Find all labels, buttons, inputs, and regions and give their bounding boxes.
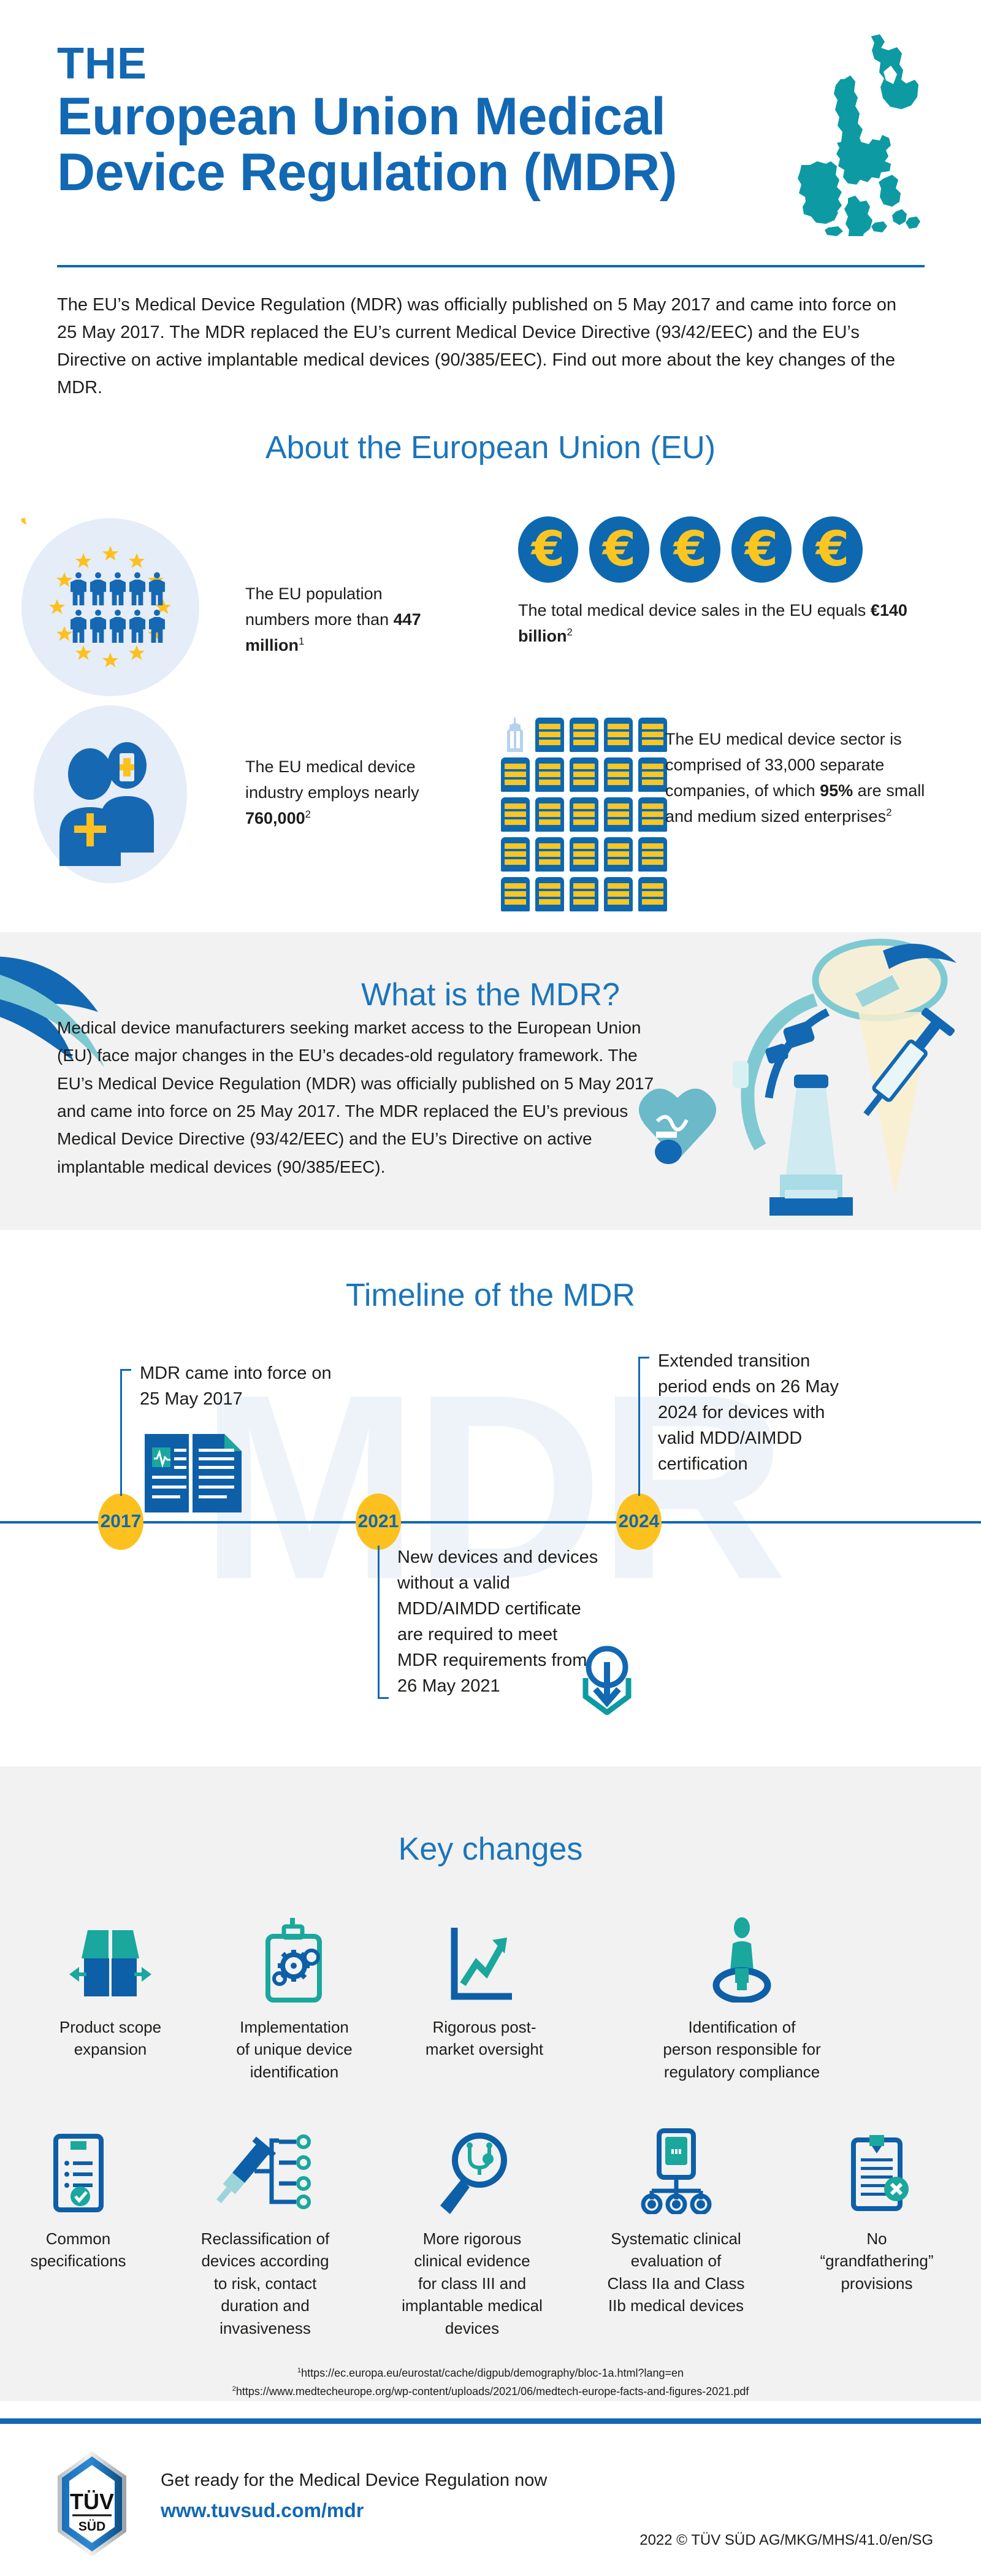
svg-text:SÜD: SÜD (78, 2520, 105, 2534)
footer-copyright: 2022 © TÜV SÜD AG/MKG/MHS/41.0/en/SG (639, 2532, 933, 2549)
about-eu-heading: About the European Union (EU) (0, 429, 981, 466)
eu-flag-people-icon (21, 518, 199, 696)
key-change-label: Rigorous post- market oversight (405, 2016, 564, 2061)
person-figure (110, 610, 126, 643)
intro-paragraph: The EU’s Medical Device Regulation (MDR)… (57, 291, 915, 402)
key-change-label: More rigorous clinical evidence for clas… (380, 2228, 564, 2339)
stat-population-text: The EU population numbers more than 447 … (245, 581, 429, 659)
timeline-stem-2017 (120, 1369, 122, 1496)
footnote-row: 1https://ec.europa.eu/eurostat/cache/dig… (0, 2364, 981, 2383)
footer-divider (0, 2418, 981, 2424)
euro-coin: € (803, 516, 863, 583)
building-icon (535, 877, 564, 911)
id-badge-gears-icon (208, 1911, 380, 2003)
person-figure (90, 610, 106, 643)
stat-employment-text: The EU medical device industry employs n… (245, 754, 429, 832)
building-icon (604, 797, 633, 832)
timeline-node-2017[interactable]: 2017 (98, 1493, 143, 1550)
building-icon (638, 837, 667, 872)
buildings-grid-icon (501, 718, 667, 911)
syringe-branching-icon (178, 2122, 353, 2214)
device-hierarchy-icon (586, 2122, 766, 2214)
footer-link[interactable]: www.tuvsud.com/mdr (161, 2499, 364, 2522)
key-change-product-scope[interactable]: Product scope expansion (31, 1911, 190, 2061)
footnote-url[interactable]: https://www.medtecheurope.org/wp-content… (236, 2385, 749, 2398)
tuv-sud-logo[interactable]: TÜV SÜD (46, 2450, 138, 2558)
page-title-line2: Device Regulation (MDR) (57, 145, 781, 201)
stat-employment-footnote: 2 (305, 808, 311, 820)
building-icon (501, 757, 530, 792)
timeline-text-2021: New devices and devices without a valid … (397, 1544, 600, 1699)
key-change-no-grandfathering[interactable]: No “grandfathering” provisions (797, 2122, 956, 2294)
tall-tower-icon (501, 718, 530, 752)
building-icon (570, 718, 598, 752)
clipboard-check-icon (12, 2122, 144, 2214)
building-icon (604, 718, 633, 752)
person-figure (110, 572, 126, 605)
stat-population-before: The EU population numbers more than (245, 585, 394, 629)
building-icon (501, 877, 530, 911)
footer-cta: Get ready for the Medical Device Regulat… (161, 2471, 547, 2491)
key-change-clinical-evidence[interactable]: More rigorous clinical evidence for clas… (380, 2122, 564, 2339)
building-icon (570, 877, 598, 911)
key-change-label: Product scope expansion (31, 2016, 190, 2061)
stat-sales-before: The total medical device sales in the EU… (518, 601, 871, 619)
building-icon (604, 877, 633, 911)
key-change-reclassification[interactable]: Reclassification of devices according to… (178, 2122, 353, 2339)
header-divider (57, 265, 925, 267)
key-change-udi[interactable]: Implementation of unique device identifi… (208, 1911, 380, 2083)
footnotes: 1https://ec.europa.eu/eurostat/cache/dig… (0, 2364, 981, 2401)
timeline-node-2021[interactable]: 2021 (356, 1493, 401, 1550)
stat-population-footnote: 1 (299, 635, 304, 647)
page-title: European Union Medical Device Regulation… (57, 89, 781, 201)
infographic-page: THE European Union Medical Device Regula… (0, 0, 981, 2576)
building-icon (570, 837, 598, 872)
footnote-url[interactable]: https://ec.europa.eu/eurostat/cache/digp… (301, 2367, 684, 2379)
key-change-person-responsible[interactable]: Identification of person responsible for… (613, 1911, 871, 2083)
euro-coin: € (660, 516, 720, 583)
stat-sales-footnote: 2 (567, 626, 572, 638)
person-figure (149, 572, 165, 605)
key-changes-heading: Key changes (0, 1831, 981, 1868)
stat-companies-value: 95% (820, 781, 853, 800)
building-icon (501, 837, 530, 872)
building-icon (638, 718, 667, 752)
building-icon (535, 837, 564, 872)
timeline-stem-2024 (638, 1357, 640, 1496)
page-title-line1: European Union Medical (57, 89, 781, 145)
stat-sales-text: The total medical device sales in the EU… (518, 598, 910, 650)
two-doctors-icon (34, 705, 187, 883)
what-is-mdr-body: Medical device manufacturers seeking mar… (57, 1014, 676, 1181)
header-eyebrow: THE (57, 42, 147, 86)
building-icon (570, 757, 598, 792)
expanding-box-icon (31, 1911, 190, 2003)
building-icon (604, 757, 633, 792)
person-figure (149, 610, 165, 643)
footnote-row: 2https://www.medtecheurope.org/wp-conten… (0, 2383, 981, 2401)
timeline-tick-2024 (638, 1357, 649, 1359)
stat-companies-text: The EU medical device sector is comprise… (665, 727, 929, 829)
building-icon (535, 797, 564, 832)
building-icon (501, 797, 530, 832)
footer (0, 2424, 981, 2576)
open-book-document-icon (141, 1429, 245, 1519)
building-icon (535, 757, 564, 792)
timeline-stem-2021 (378, 1546, 380, 1699)
key-change-label: Identification of person responsible for… (613, 2016, 871, 2083)
building-icon (638, 797, 667, 832)
growth-chart-icon (405, 1911, 564, 2003)
key-changes-section: Key changes Product scope expansion (0, 1766, 981, 2401)
building-icon (570, 797, 598, 832)
clipboard-x-icon (797, 2122, 956, 2214)
building-icon (604, 837, 633, 872)
euro-coin: € (589, 516, 649, 583)
timeline-text-2024: Extended transition period ends on 26 Ma… (658, 1348, 842, 1477)
person-figure (71, 572, 86, 605)
timeline-heading: Timeline of the MDR (0, 1277, 981, 1314)
timeline-tick-2021 (378, 1697, 389, 1699)
euro-coin: € (731, 516, 792, 583)
key-change-label: Systematic clinical evaluation of Class … (586, 2228, 766, 2317)
person-figure (129, 610, 145, 643)
building-icon (535, 718, 564, 752)
building-icon (638, 877, 667, 911)
key-change-post-market[interactable]: Rigorous post- market oversight (405, 1911, 564, 2061)
building-icon (638, 757, 667, 792)
key-change-label: No “grandfathering” provisions (797, 2228, 956, 2294)
key-change-label: Common specifications (12, 2228, 144, 2272)
key-change-label: Implementation of unique device identifi… (208, 2016, 380, 2083)
what-is-mdr-heading: What is the MDR? (0, 976, 981, 1013)
download-arrow-icon (579, 1644, 635, 1718)
key-change-common-specs[interactable]: Common specifications (12, 2122, 144, 2272)
stat-companies-footnote: 2 (886, 807, 891, 818)
timeline-axis (0, 1521, 981, 1524)
person-figure (90, 572, 106, 605)
key-change-systematic-evaluation[interactable]: Systematic clinical evaluation of Class … (586, 2122, 766, 2317)
euro-coins-icon: € € € € € (518, 516, 863, 583)
person-target-icon (613, 1911, 871, 2003)
header: THE European Union Medical Device Regula… (0, 0, 981, 294)
stat-employment-before: The EU medical device industry employs n… (245, 757, 419, 802)
person-figure (129, 572, 145, 605)
key-change-label: Reclassification of devices according to… (178, 2228, 353, 2339)
people-pictogram (71, 572, 165, 643)
euro-coin: € (518, 516, 578, 583)
europe-map-icon (769, 34, 935, 236)
stat-employment-value: 760,000 (245, 809, 305, 827)
timeline-text-2017: MDR came into force on 25 May 2017 (140, 1360, 342, 1412)
timeline-node-2024[interactable]: 2024 (616, 1493, 662, 1550)
timeline-tick-2017 (120, 1369, 131, 1371)
svg-text:TÜV: TÜV (70, 2489, 114, 2514)
magnifier-stethoscope-icon (380, 2122, 564, 2214)
person-figure (71, 610, 86, 643)
